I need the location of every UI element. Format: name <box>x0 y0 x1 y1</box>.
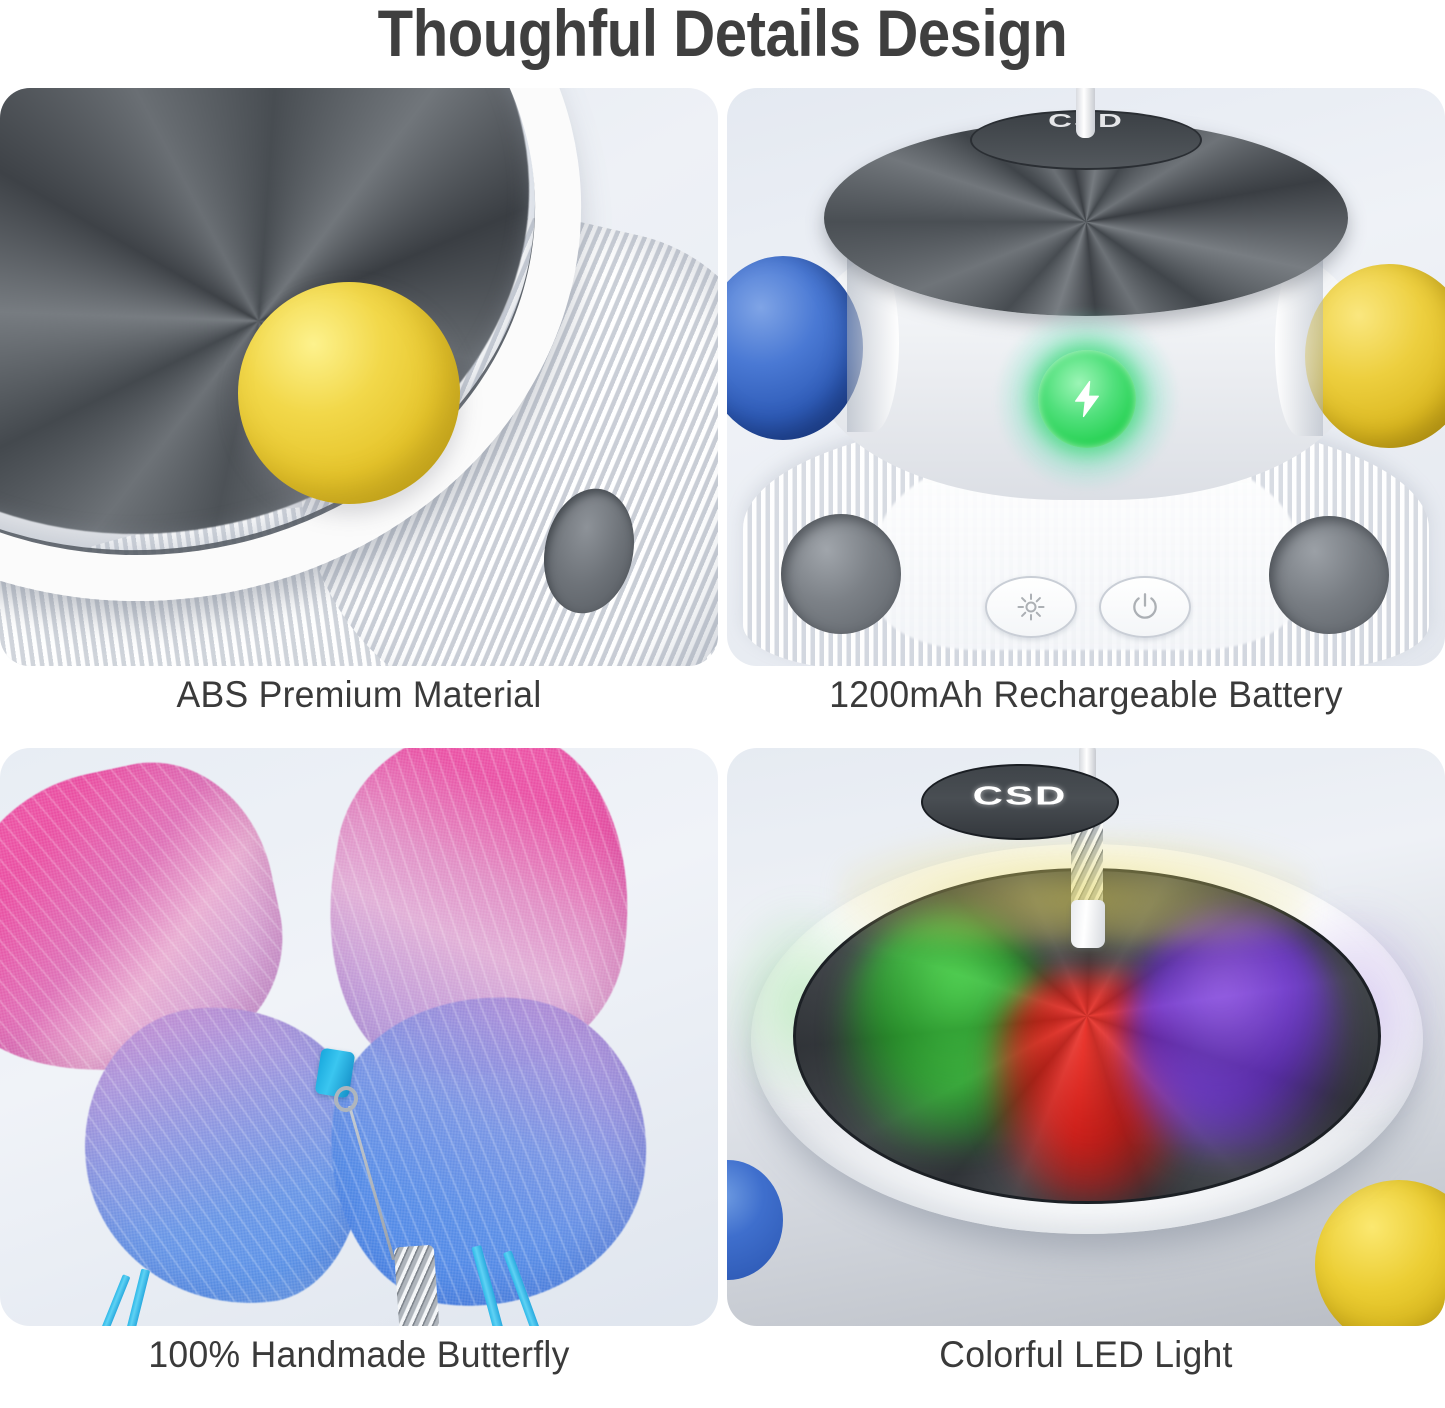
infographic-page: Thoughful Details Design ABS Premium Mat… <box>0 0 1445 1408</box>
blue-ball <box>727 1160 783 1280</box>
product-photo-abs-material <box>0 88 718 666</box>
wand-socket <box>1071 900 1105 948</box>
feature-caption-led-light: Colorful LED Light <box>741 1334 1430 1376</box>
product-photo-butterfly <box>0 748 718 1326</box>
wand-cable <box>1076 88 1095 138</box>
feature-cell-battery: CSD <box>727 88 1445 708</box>
feature-cell-led-light: CSD Colorful LED Light <box>727 748 1445 1368</box>
power-icon <box>1129 591 1161 623</box>
page-title: Thoughful Details Design <box>87 0 1359 69</box>
feature-cell-abs-material: ABS Premium Material <box>0 88 718 708</box>
brand-logo-csd: CSD <box>921 781 1119 811</box>
ribbon-streamer <box>86 1274 131 1326</box>
feature-caption-battery: 1200mAh Rechargeable Battery <box>741 674 1430 716</box>
yellow-ball <box>1315 1180 1445 1326</box>
lightning-bolt-icon <box>1038 350 1136 448</box>
feature-cell-butterfly: 100% Handmade Butterfly <box>0 748 718 1368</box>
feature-caption-butterfly: 100% Handmade Butterfly <box>14 1334 703 1376</box>
brightness-button[interactable] <box>985 576 1077 638</box>
yellow-ball <box>238 282 460 504</box>
ball-slot-right <box>1275 258 1323 436</box>
product-photo-led-light: CSD <box>727 748 1445 1326</box>
product-photo-battery: CSD <box>727 88 1445 666</box>
brightness-icon <box>1015 591 1047 623</box>
feature-grid: ABS Premium Material CSD <box>0 88 1445 1408</box>
track-hole-left <box>781 514 901 634</box>
power-button[interactable] <box>1099 576 1191 638</box>
feature-caption-abs-material: ABS Premium Material <box>14 674 703 716</box>
track-hole-right <box>1269 516 1389 634</box>
